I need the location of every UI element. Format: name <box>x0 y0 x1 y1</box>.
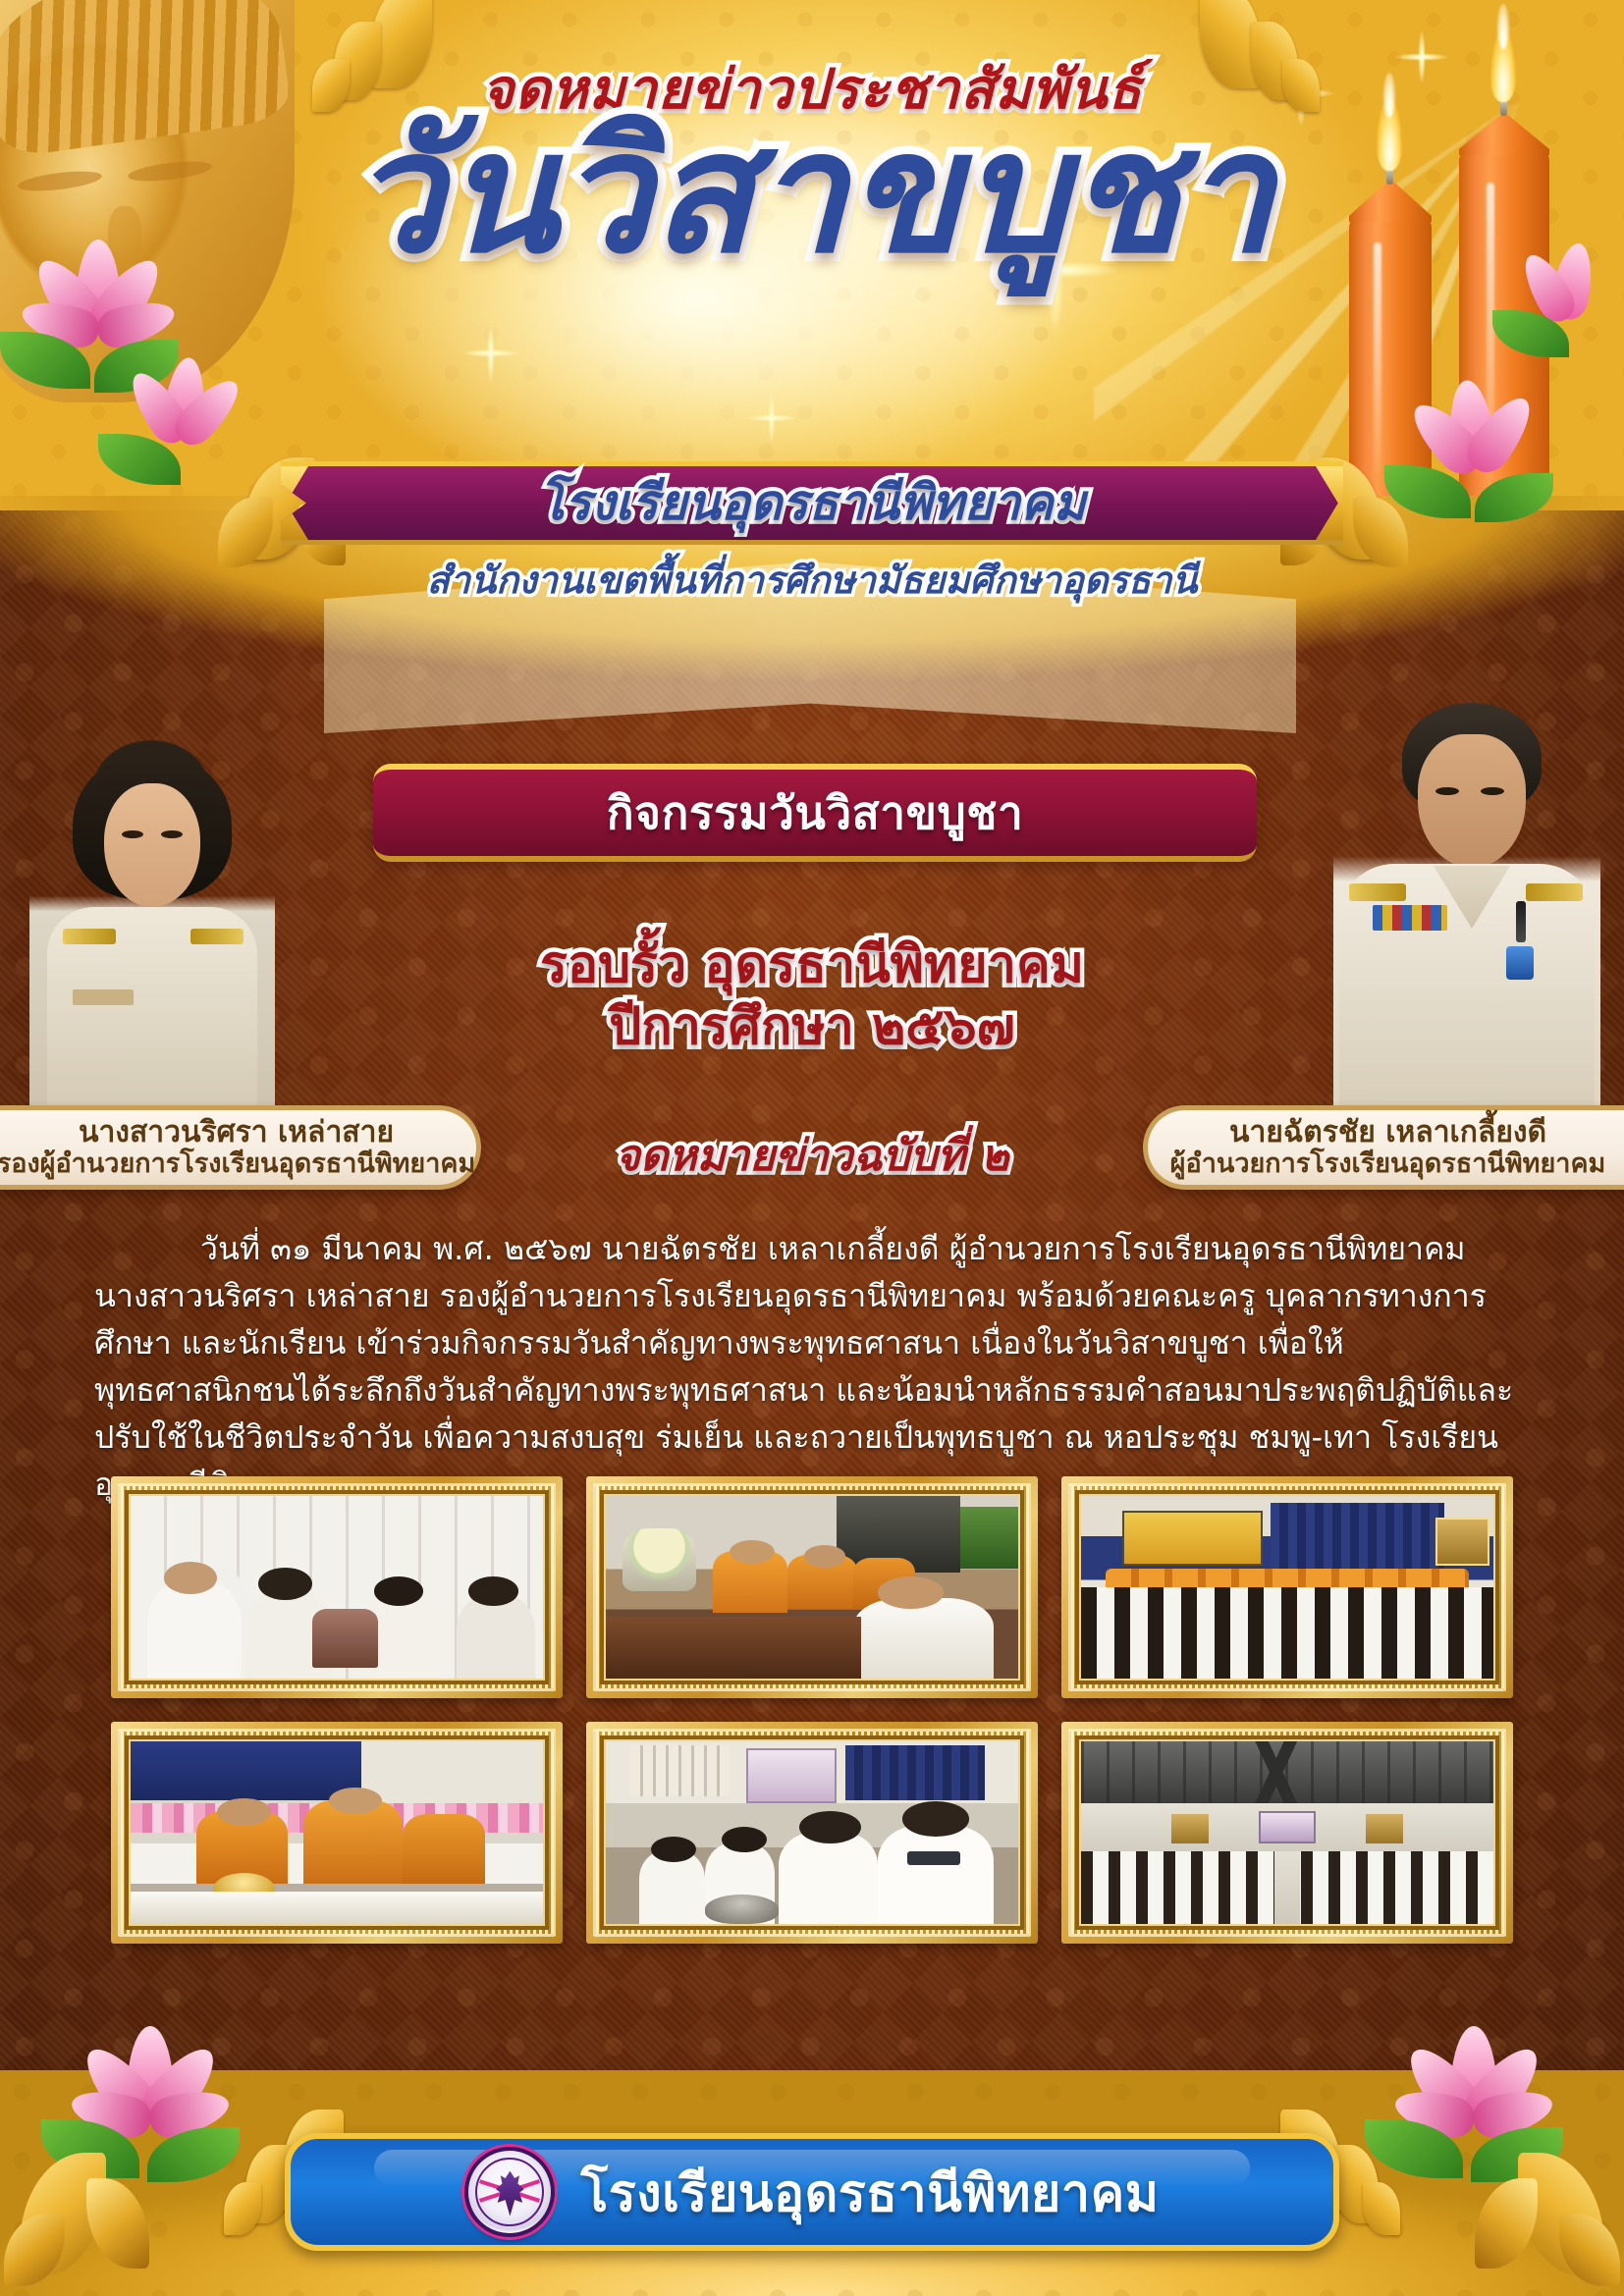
news-paragraph: วันที่ ๓๑ มีนาคม พ.ศ. ๒๕๖๗ นายฉัตรชัย เห… <box>94 1225 1530 1508</box>
nameplate-role: ผู้อำนวยการโรงเรียนอุดรธานีพิทยาคม <box>1170 1149 1606 1179</box>
photo-image-3 <box>1081 1496 1493 1679</box>
center-line-2: ปีการศึกษา ๒๕๖๗ <box>0 996 1624 1058</box>
blue-backdrop <box>131 1741 361 1800</box>
wall-picture <box>1366 1814 1403 1843</box>
gallery-photo[interactable] <box>111 1722 563 1944</box>
student-shirt <box>878 1826 994 1924</box>
gallery-photo[interactable] <box>111 1476 563 1698</box>
photo-image-4 <box>131 1741 543 1924</box>
photo-image-5 <box>606 1741 1018 1924</box>
photo-gallery <box>111 1476 1513 1944</box>
nameplate-director: นายฉัตรชัย เหลาเกลี้ยงดี ผู้อำนวยการโรงเ… <box>1143 1105 1624 1190</box>
stage-banner <box>1259 1811 1317 1843</box>
medal-ribbon-bar <box>1373 905 1447 931</box>
students-crowd <box>1081 1587 1493 1679</box>
gallery-photo[interactable] <box>586 1722 1038 1944</box>
photo-image-6 <box>1081 1741 1493 1924</box>
monk-robe <box>403 1814 485 1884</box>
photo-image-2 <box>606 1496 1018 1679</box>
wall-picture <box>1171 1814 1209 1843</box>
page-title: วันวิสาขบูชา <box>0 106 1624 282</box>
aisle <box>1274 1851 1299 1924</box>
face <box>104 783 200 907</box>
monk-head <box>730 1540 775 1564</box>
wall-picture <box>1435 1518 1489 1565</box>
activity-banner-text: กิจกรรมวันวิสาขบูชา <box>607 777 1024 849</box>
window-grid <box>630 1745 730 1796</box>
student-head <box>651 1837 696 1862</box>
necktie-bow <box>907 1851 961 1866</box>
footer-school-name: โรงเรียนอุดรธานีพิทยาคม <box>580 2152 1159 2233</box>
kanok-wing-left <box>312 0 442 122</box>
person-head <box>374 1576 423 1606</box>
roof-truss <box>1081 1741 1493 1803</box>
eye-right <box>1481 787 1504 795</box>
greenery <box>960 1507 1018 1569</box>
student-shirt <box>779 1833 878 1924</box>
gallery-photo[interactable] <box>586 1476 1038 1698</box>
altar-table <box>606 1617 861 1679</box>
eye-left <box>122 830 143 838</box>
student-head <box>902 1801 968 1836</box>
stage-curtain <box>845 1745 986 1800</box>
stage-curtain <box>1271 1503 1443 1573</box>
person-silhouette <box>147 1580 243 1679</box>
eye-left <box>1435 787 1459 795</box>
poster-root: จดหมายข่าวประชาสัมพันธ์ วันวิสาขบูชา โรง… <box>0 0 1624 2296</box>
gallery-photo[interactable] <box>1061 1476 1513 1698</box>
center-headline-block: รอบรั้ว อุดรธานีพิทยาคม ปีการศึกษา ๒๕๖๗ <box>0 934 1624 1059</box>
wall-banner <box>746 1748 837 1803</box>
nameplate-role: รองผู้อำนวยการโรงเรียนอุดรธานีพิทยาคม <box>0 1149 475 1179</box>
face <box>1418 734 1526 868</box>
shoulder-rank-badge <box>1526 883 1583 901</box>
education-office-text: สำนักงานเขตพื้นที่การศึกษามัธยมศึกษาอุดร… <box>0 550 1624 610</box>
kanok-wing-right <box>1190 0 1320 122</box>
news-body: วันที่ ๓๑ มีนาคม พ.ศ. ๒๕๖๗ นายฉัตรชัย เห… <box>94 1225 1530 1508</box>
layman-white-shirt <box>853 1598 994 1679</box>
eye-right <box>161 830 183 838</box>
nameplate-name: นางสาวนริศรา เหล่าสาย <box>79 1116 394 1149</box>
shoulder-rank-badge <box>1349 883 1406 901</box>
person-silhouette <box>457 1594 535 1679</box>
school-name-text: โรงเรียนอุดรธานีพิทยาคม <box>538 464 1085 542</box>
white-wall <box>361 1741 543 1803</box>
person-head <box>468 1576 517 1606</box>
footer-school-banner: โรงเรียนอุดรธานีพิทยาคม <box>285 2133 1339 2251</box>
gallery-photo[interactable] <box>1061 1722 1513 1944</box>
school-seal-icon <box>464 2147 555 2237</box>
nameplate-name: นายฉัตรชัย เหลาเกลี้ยงดี <box>1229 1116 1546 1149</box>
flower-vase <box>623 1528 697 1590</box>
wooden-chair <box>312 1609 378 1668</box>
monk-head <box>804 1545 845 1567</box>
student-head <box>799 1811 861 1843</box>
nameplate-vice-director: นางสาวนริศรา เหล่าสาย รองผู้อำนวยการโรงเ… <box>0 1105 481 1190</box>
portrait-vice-director <box>29 734 275 1119</box>
activity-banner: กิจกรรมวันวิสาขบูชา <box>373 764 1257 862</box>
projector-screen <box>1122 1511 1263 1566</box>
school-ribbon: โรงเรียนอุดรธานีพิทยาคม <box>281 461 1343 545</box>
alms-bowl <box>705 1895 780 1924</box>
photo-image-1 <box>131 1496 543 1679</box>
monk-head <box>217 1798 271 1826</box>
center-line-1: รอบรั้ว อุดรธานีพิทยาคม <box>0 934 1624 996</box>
student-shirt <box>639 1851 705 1924</box>
white-table-cloth <box>131 1892 543 1924</box>
person-head <box>258 1568 312 1600</box>
